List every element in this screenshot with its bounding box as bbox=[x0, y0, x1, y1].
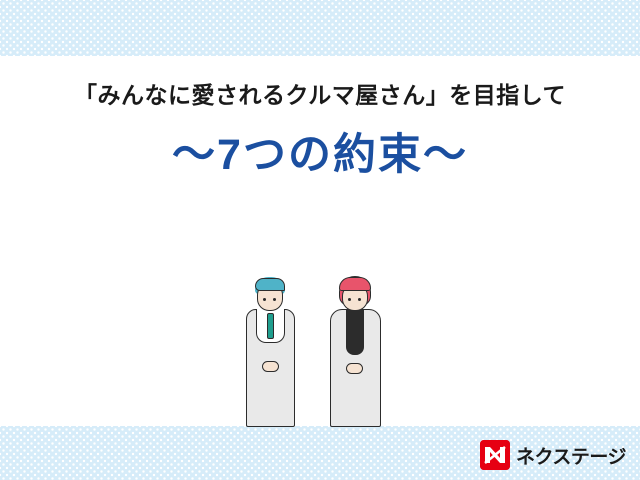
female-left-eye-icon bbox=[348, 298, 351, 301]
male-necktie-shape bbox=[267, 313, 274, 339]
headline-text: 「みんなに愛されるクルマ屋さん」を目指して bbox=[0, 76, 640, 110]
nextage-logo: ネクステージ bbox=[480, 440, 626, 470]
female-right-eye-icon bbox=[358, 298, 361, 301]
male-hair-front-shape bbox=[255, 278, 285, 291]
male-figure-icon bbox=[238, 275, 306, 427]
male-hands-shape bbox=[262, 361, 279, 372]
slide-canvas: 「みんなに愛されるクルマ屋さん」を目指して 〜7つの約束〜 bbox=[0, 0, 640, 480]
male-left-eye-icon bbox=[263, 298, 266, 301]
female-figure-icon bbox=[323, 275, 391, 427]
halftone-band-top bbox=[0, 0, 640, 56]
female-hair-front-shape bbox=[339, 277, 371, 291]
male-right-eye-icon bbox=[273, 298, 276, 301]
people-illustration bbox=[238, 275, 408, 427]
nextage-logo-mark-icon bbox=[480, 440, 510, 470]
nextage-logo-text: ネクステージ bbox=[516, 442, 626, 469]
female-hands-shape bbox=[346, 363, 363, 374]
female-inner-top-shape bbox=[346, 309, 364, 355]
subheadline-text: 〜7つの約束〜 bbox=[0, 120, 640, 182]
